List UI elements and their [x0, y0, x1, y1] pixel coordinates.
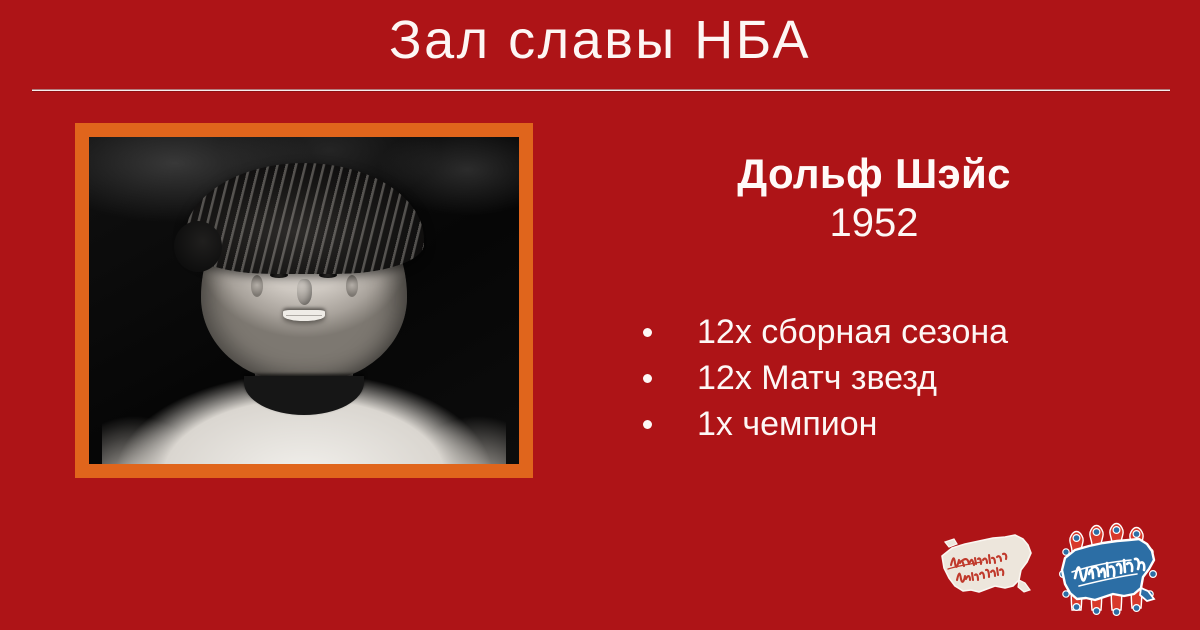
national-league-logo [935, 522, 1035, 610]
player-name: Дольф Шэйс [600, 150, 1170, 197]
bullet-icon [643, 374, 652, 383]
ear-left-shape [251, 275, 263, 297]
page-title: Зал славы НБА [0, 12, 1200, 69]
achievement-label: 12x Матч звезд [697, 359, 937, 397]
nationals-logo [1053, 522, 1165, 620]
ear-right-shape [346, 275, 358, 297]
mouth-shape [283, 310, 324, 321]
nose-shape [297, 279, 312, 305]
title-divider [32, 89, 1170, 92]
bullet-icon [643, 328, 652, 337]
achievements-list: 12x сборная сезона 12x Матч звезд 1x чем… [600, 309, 1170, 447]
portrait-image [89, 137, 519, 464]
team-logos [935, 522, 1175, 620]
player-photo-frame [75, 123, 533, 478]
achievement-label: 1x чемпион [697, 405, 877, 443]
hair-shape [184, 163, 425, 274]
induction-year: 1952 [600, 199, 1170, 247]
list-item: 1x чемпион [643, 401, 1170, 447]
achievement-label: 12x сборная сезона [697, 313, 1008, 351]
player-photo [89, 137, 519, 464]
bullet-icon [643, 420, 652, 429]
list-item: 12x Матч звезд [643, 355, 1170, 401]
player-info-block: Дольф Шэйс 1952 12x сборная сезона 12x М… [600, 150, 1170, 447]
list-item: 12x сборная сезона [643, 309, 1170, 355]
